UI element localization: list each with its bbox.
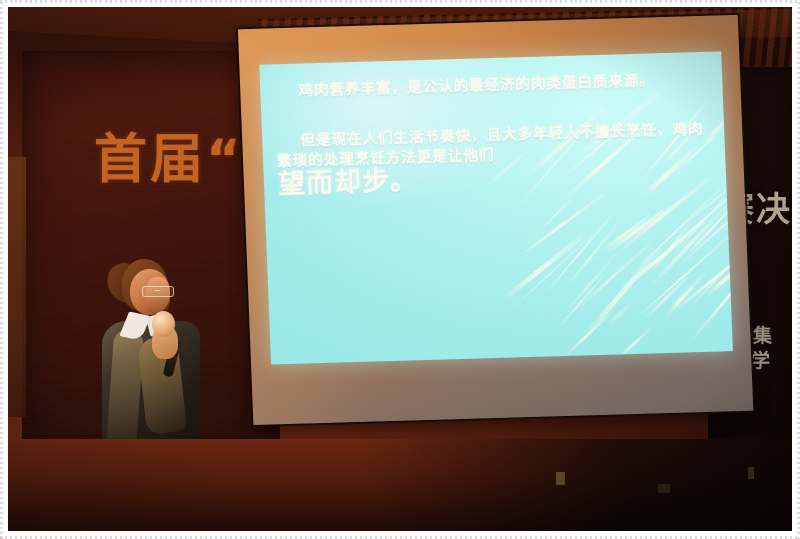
stage-floor-shadow — [362, 439, 792, 531]
floor-marker-1 — [556, 472, 565, 485]
floor-marker-2 — [658, 484, 670, 493]
projection-screen: 鸡肉营养丰富，是公认的最经济的肉类蛋白质来源。 但是现在人们生活节奏快，且大多年… — [238, 15, 754, 439]
photo-frame: 首届“新 赛决 六和集 业大学 鸡肉营养丰富，是公认的最经济的肉类蛋白质来源。 … — [0, 0, 800, 539]
speaker-glasses — [142, 286, 174, 297]
floor-marker-3 — [748, 467, 754, 479]
banner-left-edge-strip — [8, 157, 26, 417]
slide-text-block: 鸡肉营养丰富，是公认的最经济的肉类蛋白质来源。 但是现在人们生活节奏快，且大多年… — [274, 62, 719, 200]
stage-photograph: 首届“新 赛决 六和集 业大学 鸡肉营养丰富，是公认的最经济的肉类蛋白质来源。 … — [8, 7, 792, 531]
microphone-head-icon — [152, 311, 175, 337]
slide-paragraph-1: 鸡肉营养丰富，是公认的最经济的肉类蛋白质来源。 — [274, 70, 715, 102]
presentation-slide: 鸡肉营养丰富，是公认的最经济的肉类蛋白质来源。 但是现在人们生活节奏快，且大多年… — [259, 51, 733, 364]
